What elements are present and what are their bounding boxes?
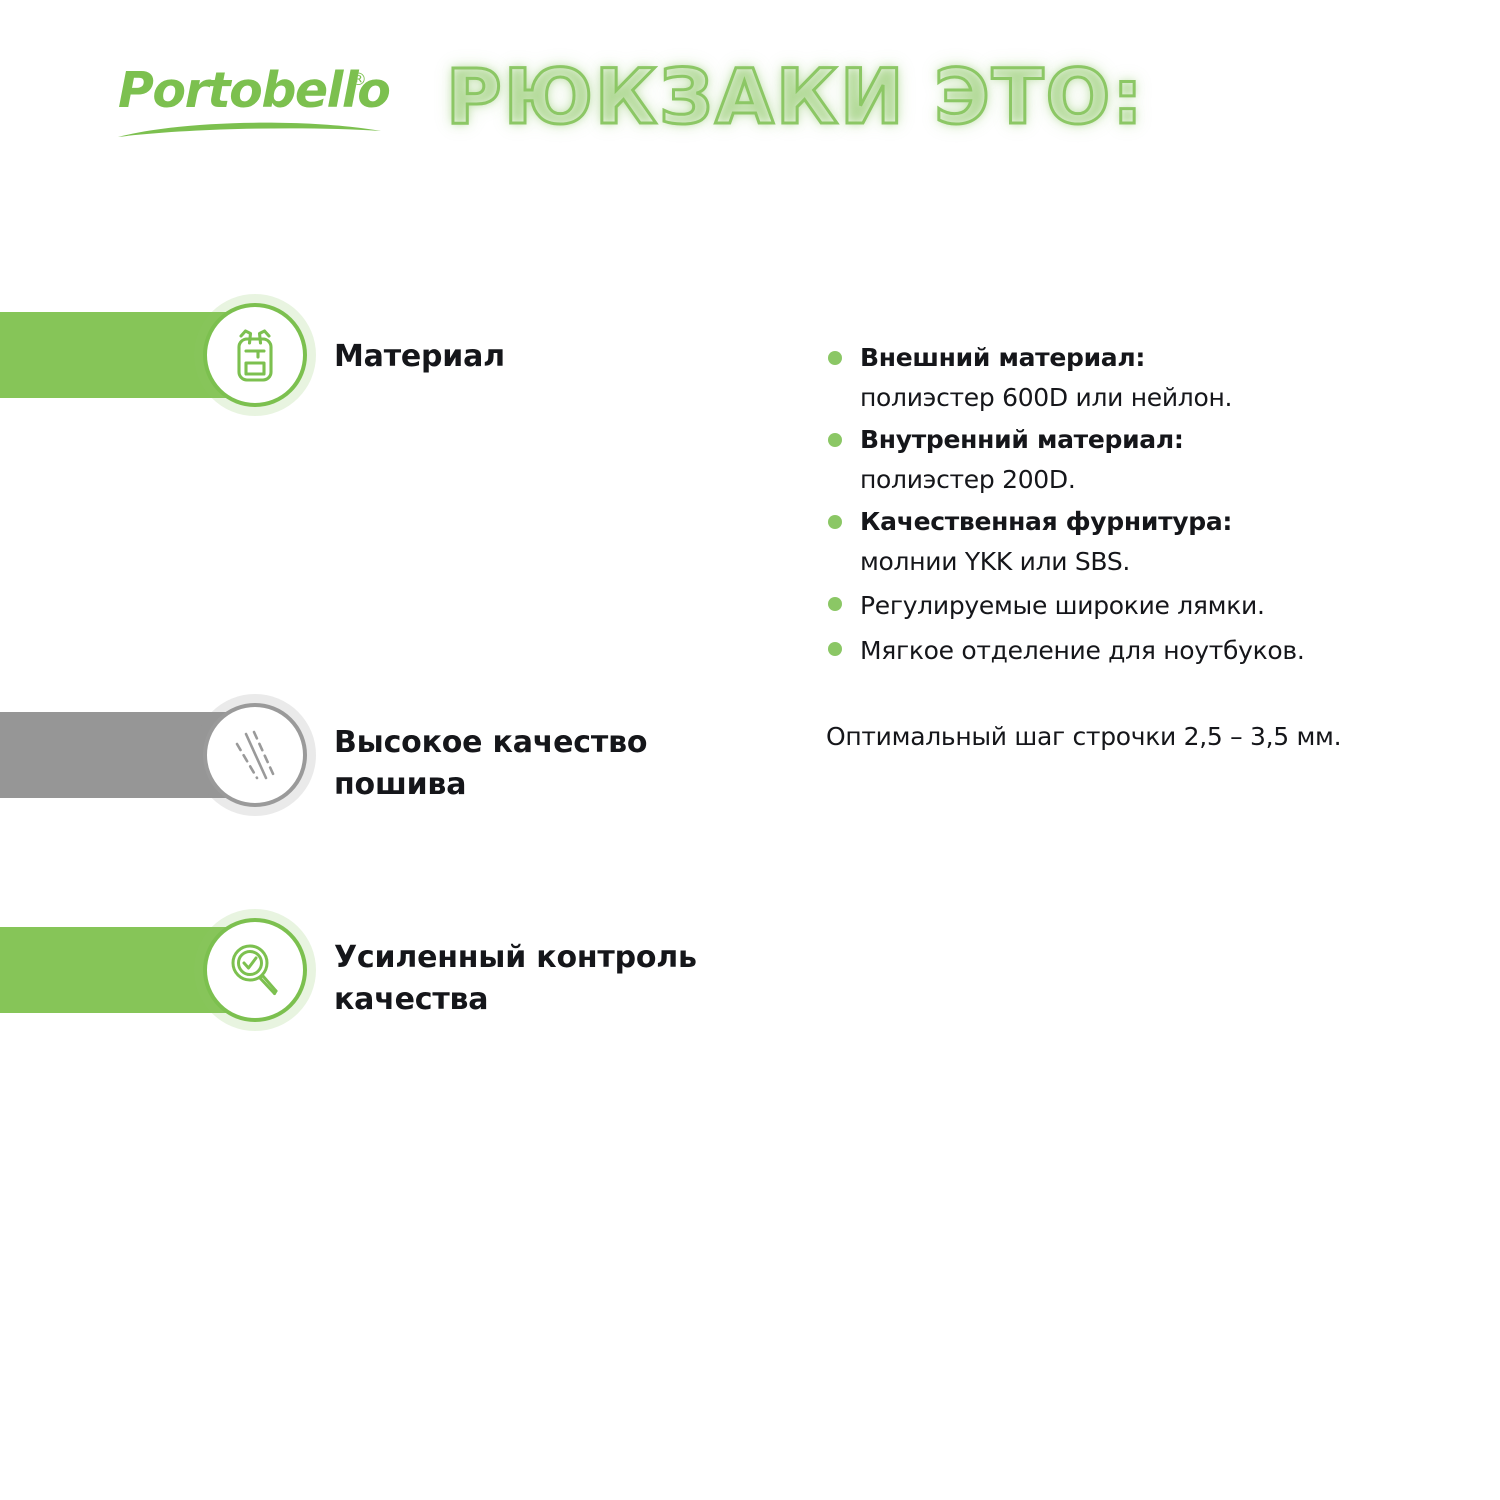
backpack-icon — [203, 303, 307, 407]
bullet-text: Регулируемые широкие лямки. — [860, 584, 1446, 627]
material-bullet-list: Внешний материал: полиэстер 600D или ней… — [826, 338, 1446, 674]
bullet-dot-icon — [828, 597, 842, 611]
section-title-quality-control: Усиленный контроль качества — [334, 937, 697, 1021]
section-title-stitching: Высокое качество пошива — [334, 722, 647, 806]
brand-logo-wordmark: Portobello — [118, 62, 389, 119]
list-item: Мягкое отделение для ноутбуков. — [826, 629, 1446, 672]
brand-logo-swoosh-icon — [118, 117, 383, 139]
stitching-note: Оптимальный шаг строчки 2,5 – 3,5 мм. — [826, 722, 1341, 751]
bullet-head: Внутренний материал: — [860, 420, 1446, 460]
bullet-head: Качественная фурнитура: — [860, 502, 1446, 542]
bullet-head: Внешний материал: — [860, 338, 1446, 378]
bullet-dot-icon — [828, 351, 842, 365]
bullet-dot-icon — [828, 515, 842, 529]
bullet-dot-icon — [828, 642, 842, 656]
stitching-icon — [203, 703, 307, 807]
magnifier-check-icon — [203, 918, 307, 1022]
list-item: Внутренний материал: полиэстер 200D. — [826, 420, 1446, 500]
section-title-material: Материал — [334, 336, 505, 378]
list-item: Регулируемые широкие лямки. — [826, 584, 1446, 627]
bullet-dot-icon — [828, 433, 842, 447]
page-title: РЮКЗАКИ ЭТО: — [446, 52, 1145, 141]
bullet-sub: полиэстер 600D или нейлон. — [860, 378, 1446, 418]
bullet-text: Мягкое отделение для ноутбуков. — [860, 629, 1446, 672]
list-item: Внешний материал: полиэстер 600D или ней… — [826, 338, 1446, 418]
infographic-page: Portobello ® РЮКЗАКИ ЭТО: Материа — [0, 0, 1500, 1500]
registered-trademark-icon: ® — [350, 70, 367, 90]
brand-logo: Portobello ® — [118, 62, 388, 142]
bullet-sub: полиэстер 200D. — [860, 460, 1446, 500]
list-item: Качественная фурнитура: молнии YKK или S… — [826, 502, 1446, 582]
bullet-sub: молнии YKK или SBS. — [860, 542, 1446, 582]
